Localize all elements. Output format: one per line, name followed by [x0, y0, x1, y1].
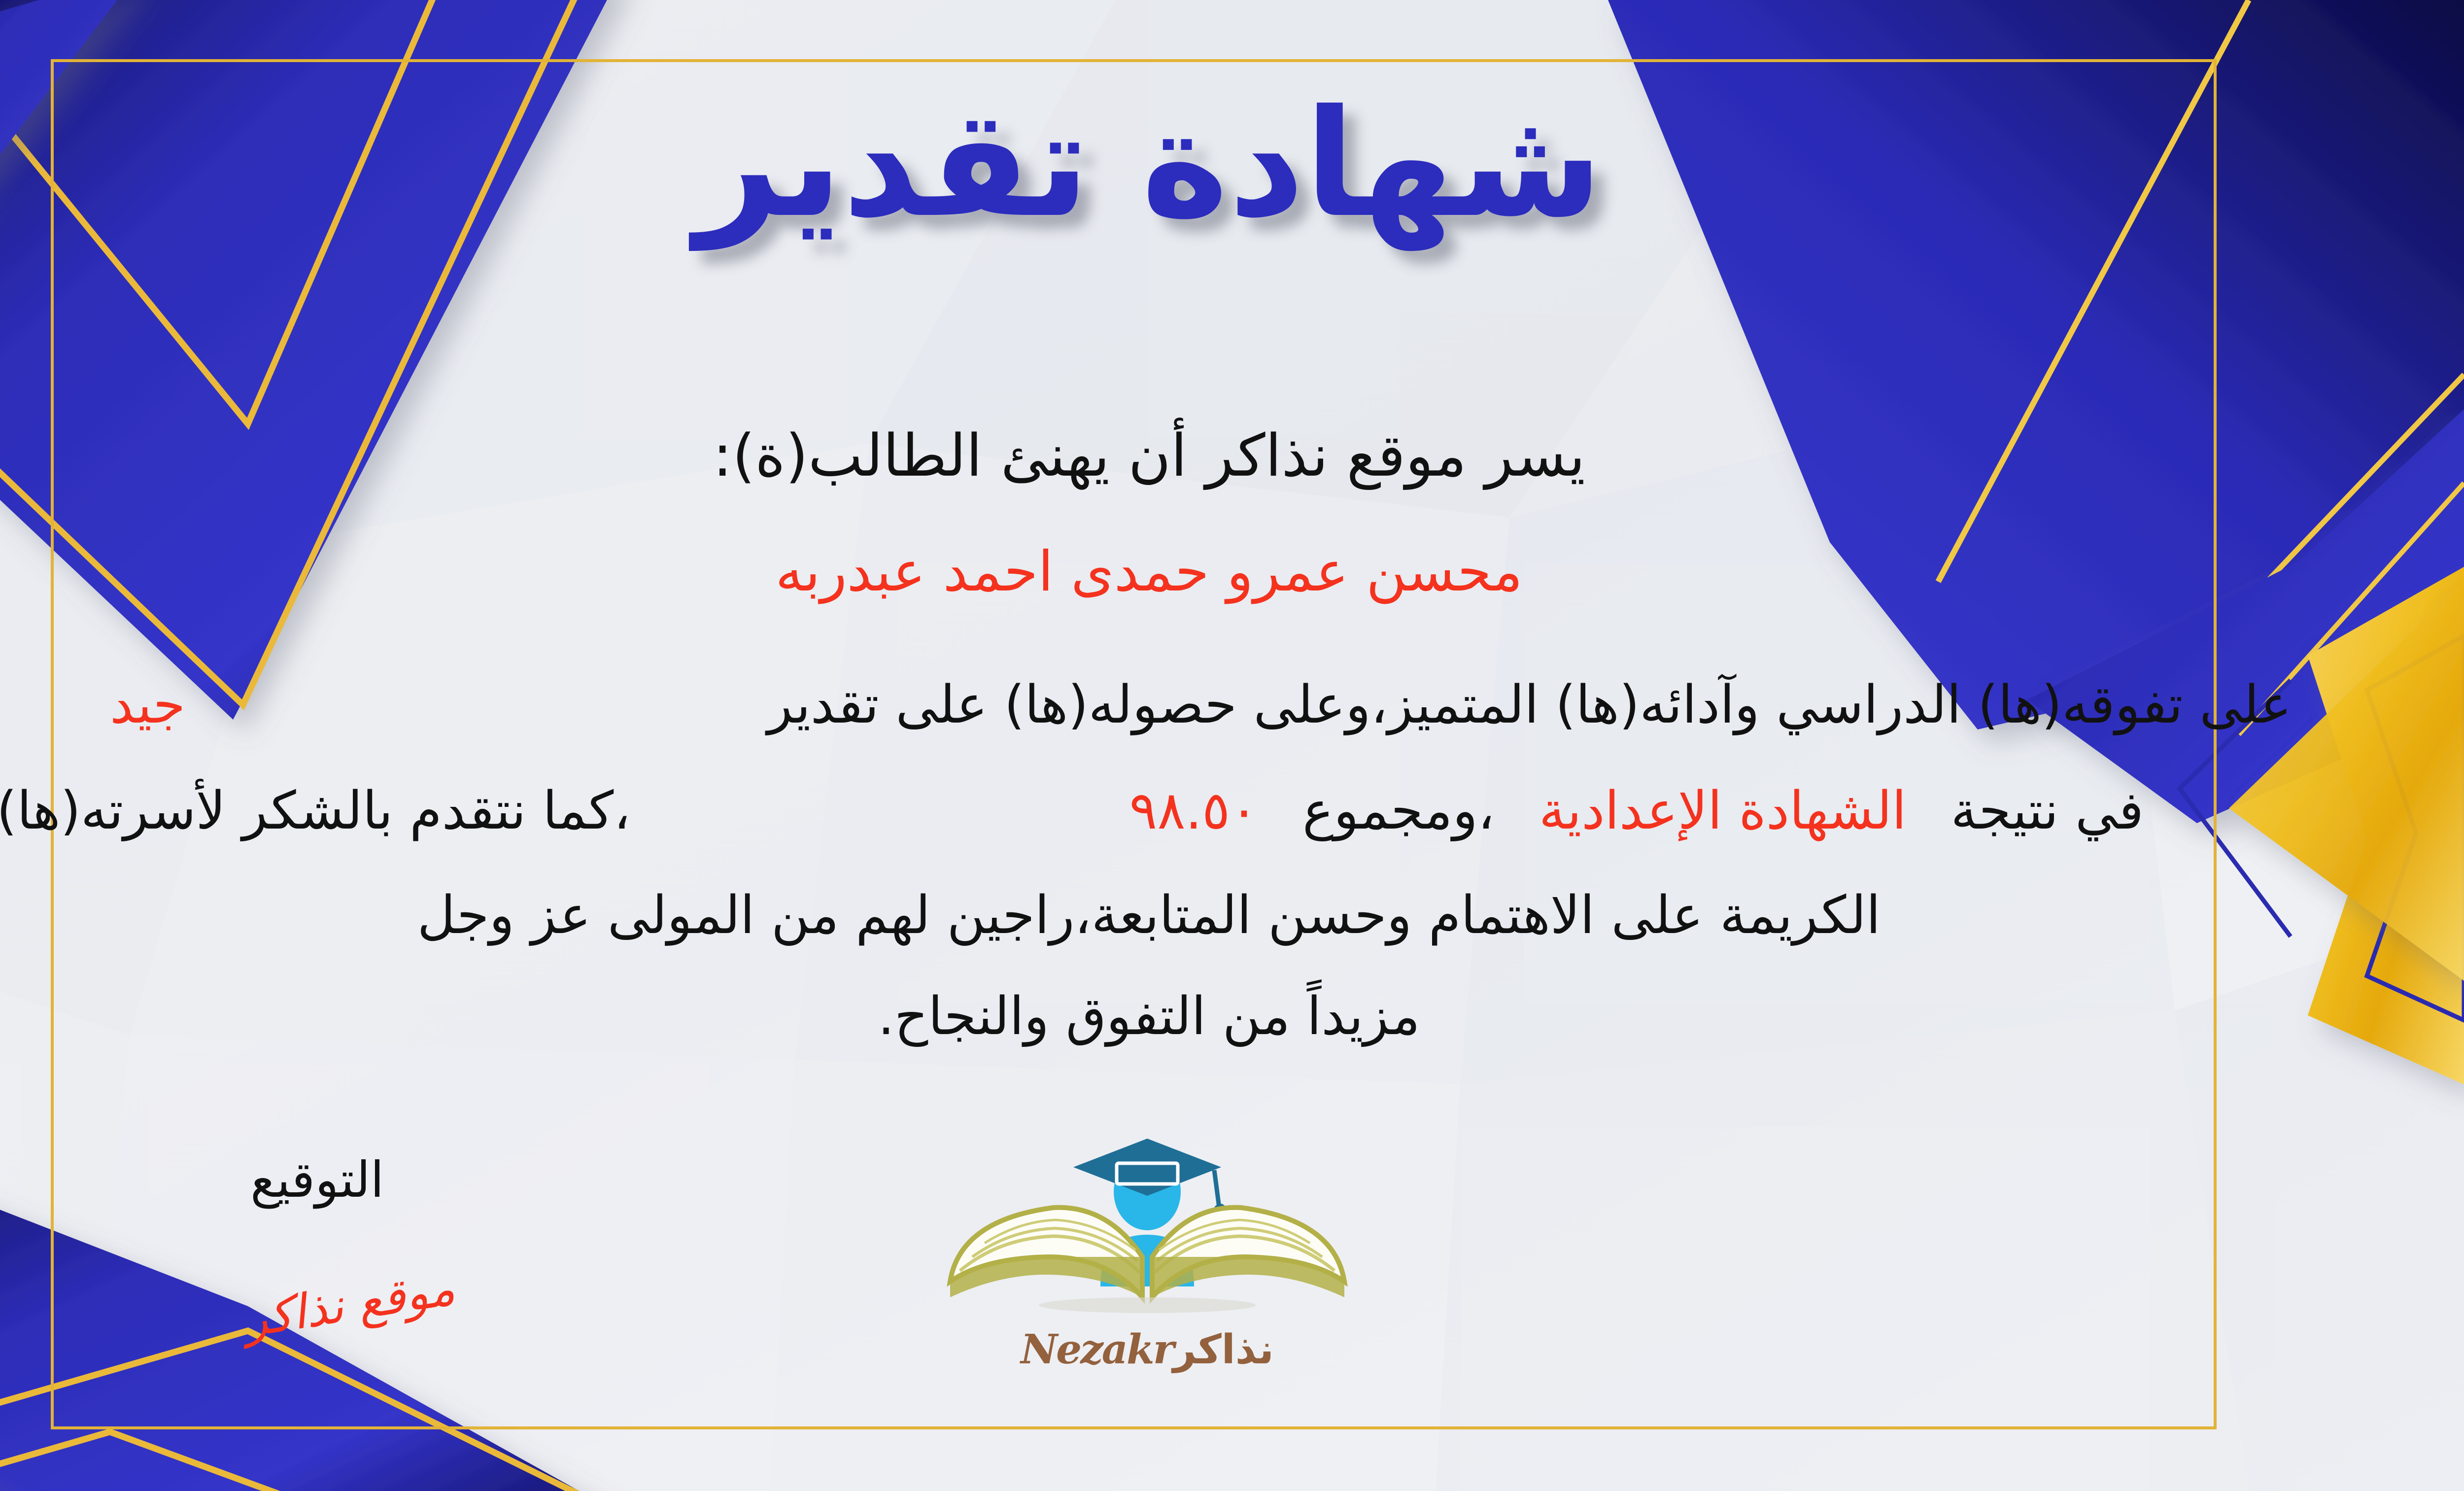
total-label: ،ومجموع — [1302, 780, 1495, 841]
logo-latin: Nezakr — [1021, 1326, 1173, 1373]
achievement-line-3: الكريمة على الاهتمام وحسن المتابعة،راجين… — [0, 885, 2464, 945]
score-value: ٩٨.٥٠ — [1129, 780, 1258, 841]
signature-label: التوقيع — [250, 1151, 384, 1209]
certificate-name: الشهادة الإعدادية — [1539, 780, 1907, 841]
student-name: محسن عمرو حمدى احمد عبدربه — [0, 540, 2464, 604]
certificate-canvas: شهادة تقدير يسر موقع نذاكر أن يهنئ الطال… — [0, 0, 2464, 1491]
result-group: في نتيجة الشهادة الإعدادية ،ومجموع ٩٨.٥٠ — [1129, 780, 2341, 841]
greeting-text: يسر موقع نذاكر أن يهنئ الطالب(ة): — [0, 421, 2464, 489]
graduate-book-icon — [930, 1134, 1364, 1331]
achievement-text: على تفوقه(ها) الدراسي وآدائه(ها) المتميز… — [767, 674, 2292, 735]
logo-wordmark: نذاكرNezakr — [930, 1326, 1364, 1373]
grade-value: جيد — [110, 674, 185, 735]
result-prefix: في نتيجة — [1951, 780, 2144, 841]
thanks-text: ،كما نتقدم بالشكر لأسرته(ها) — [0, 780, 630, 841]
achievement-line-2: في نتيجة الشهادة الإعدادية ،ومجموع ٩٨.٥٠… — [0, 780, 2341, 841]
achievement-line-4: مزيداً من التفوق والنجاح. — [0, 986, 2464, 1046]
logo-arabic: نذاكر — [1173, 1326, 1274, 1373]
certificate-title: شهادة تقدير — [0, 64, 2464, 264]
site-logo: نذاكرNezakr — [930, 1134, 1364, 1410]
achievement-line-1: على تفوقه(ها) الدراسي وآدائه(ها) المتميز… — [0, 674, 2341, 735]
signature-script: موقع نذاكر — [240, 1260, 458, 1348]
